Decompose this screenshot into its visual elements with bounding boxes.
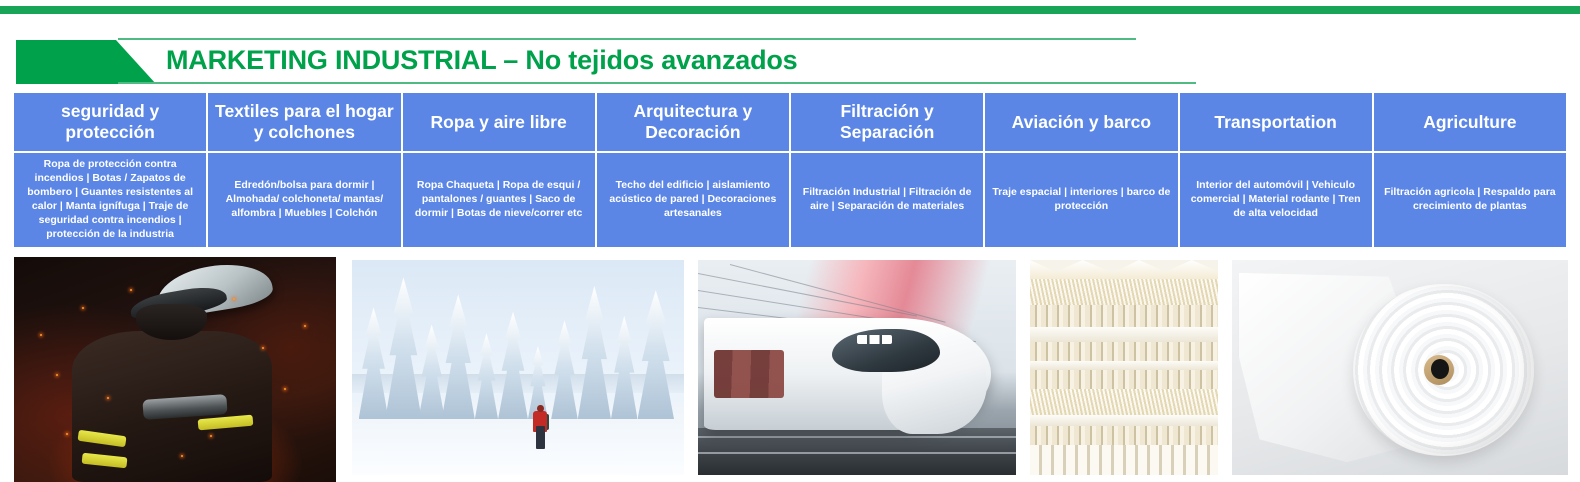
- mattress-spring-row: [1030, 370, 1218, 389]
- mattress-spring-row: [1030, 342, 1218, 361]
- ember-spark: [262, 347, 264, 349]
- ember-spark: [56, 374, 58, 376]
- matrix-body-cell-filtracion-separacion: Filtración Industrial | Filtración de ai…: [791, 153, 983, 247]
- hiker-head: [537, 405, 544, 412]
- ember-spark: [82, 307, 84, 309]
- snow-forest-photo: [352, 260, 684, 475]
- matrix-body-row: Ropa de protección contra incendios | Bo…: [14, 153, 1566, 247]
- matrix-body-cell-textiles-hogar-colchones: Edredón/bolsa para dormir | Almohada/ co…: [208, 153, 400, 247]
- matrix-header-cell-ropa-aire-libre[interactable]: Ropa y aire libre: [403, 93, 595, 151]
- matrix-body-cell-ropa-aire-libre: Ropa Chaqueta | Ropa de esqui / pantalon…: [403, 153, 595, 247]
- title-block: MARKETING INDUSTRIAL – No tejidos avanza…: [0, 26, 1580, 82]
- matrix-header-cell-seguridad-y-proteccion[interactable]: seguridad y protección: [14, 93, 206, 151]
- train-headlights: [857, 335, 892, 344]
- application-matrix-table: seguridad y protección Textiles para el …: [12, 91, 1568, 249]
- mattress-flat-layer: [1030, 327, 1218, 342]
- matrix-body-cell-seguridad-y-proteccion: Ropa de protección contra incendios | Bo…: [14, 153, 206, 247]
- mattress-flat-layer: [1030, 361, 1218, 370]
- mattress-flat-layer: [1030, 415, 1218, 426]
- photo-strip: [0, 257, 1580, 482]
- matrix-header-row: seguridad y protección Textiles para el …: [14, 93, 1566, 151]
- matrix-body-cell-aviacion-barco: Traje espacial | interiores | barco de p…: [985, 153, 1177, 247]
- matrix-header-cell-filtracion-separacion[interactable]: Filtración y Separación: [791, 93, 983, 151]
- ember-spark: [233, 298, 235, 300]
- page-title: MARKETING INDUSTRIAL – No tejidos avanza…: [166, 40, 797, 80]
- title-rule-bottom: [118, 82, 1196, 84]
- matrix-header-cell-arquitectura-decoracion[interactable]: Arquitectura y Decoración: [597, 93, 789, 151]
- mattress-pocket-springs: [1030, 445, 1218, 475]
- firefighter-photo: [14, 257, 336, 482]
- ember-spark: [304, 325, 306, 327]
- mattress-spring-row: [1030, 305, 1218, 327]
- matrix-header-cell-aviacion-barco[interactable]: Aviación y barco: [985, 93, 1177, 151]
- rail-line: [698, 452, 1016, 454]
- ember-spark: [130, 289, 132, 291]
- matrix-header-cell-transportation[interactable]: Transportation: [1180, 93, 1372, 151]
- railway-track: [698, 428, 1016, 475]
- rail-line: [698, 436, 1016, 438]
- mattress-fiber-layer: [1030, 389, 1218, 415]
- matrix-body-cell-agriculture: Filtración agricola | Respaldo para crec…: [1374, 153, 1566, 247]
- train-side-windows: [714, 350, 784, 397]
- matrix-header-cell-agriculture[interactable]: Agriculture: [1374, 93, 1566, 151]
- matrix-body-cell-transportation: Interior del automóvil | Vehiculo comerc…: [1180, 153, 1372, 247]
- mattress-spring-row: [1030, 426, 1218, 445]
- matrix-body-cell-arquitectura-decoracion: Techo del edificio | aislamiento acústic…: [597, 153, 789, 247]
- nonwoven-roll-photo: [1232, 260, 1568, 475]
- ember-spark: [66, 433, 68, 435]
- mattress-layers-photo: [1030, 260, 1218, 475]
- top-accent-bar: [0, 6, 1580, 14]
- high-speed-train-photo: [698, 260, 1016, 475]
- hiker-legs: [536, 426, 545, 450]
- matrix-header-cell-textiles-hogar-colchones[interactable]: Textiles para el hogar y colchones: [208, 93, 400, 151]
- ember-spark: [40, 334, 42, 336]
- green-flag-shape: [16, 40, 156, 84]
